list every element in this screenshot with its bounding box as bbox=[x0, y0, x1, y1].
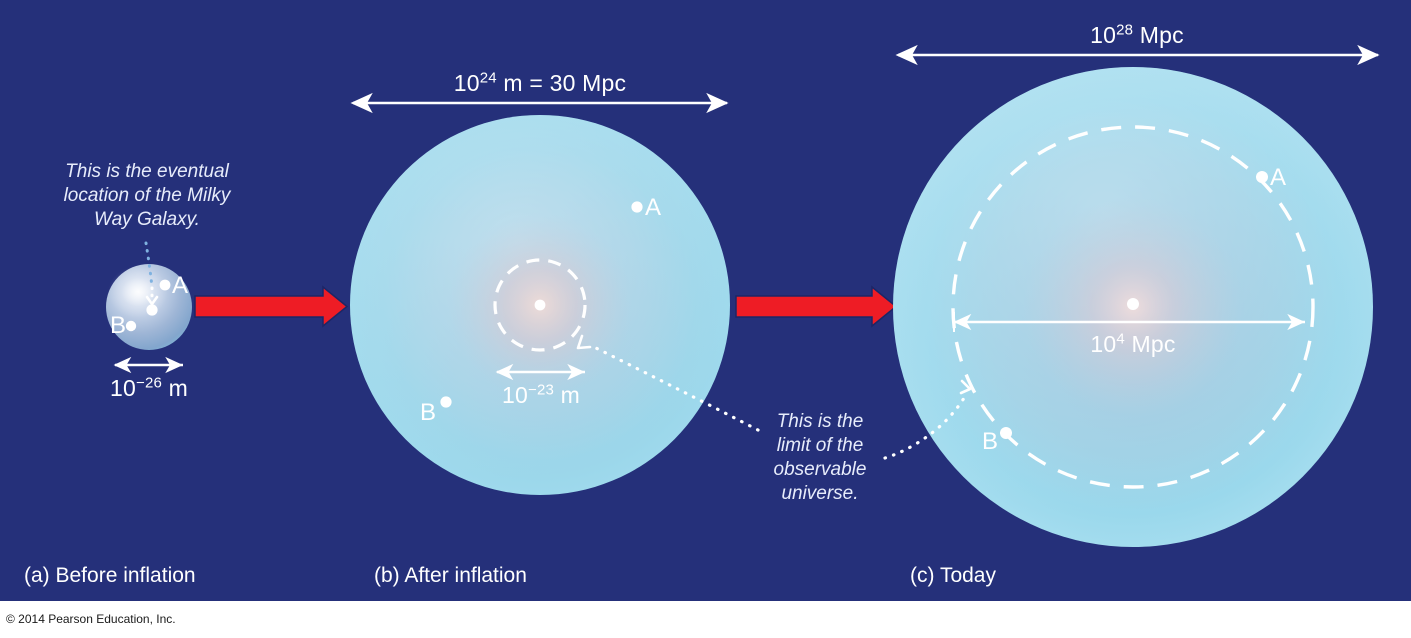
panel-b-inner-scale-label: 10−23 m bbox=[502, 382, 580, 409]
panel-c-center-dot bbox=[1127, 298, 1139, 310]
panel-c-inner-scale-label: 104 Mpc bbox=[1090, 331, 1175, 358]
observable-limit-annotation: This is the limit of the observable univ… bbox=[758, 410, 882, 506]
panel-c-inner-unit: Mpc bbox=[1125, 331, 1176, 357]
panel-b-point-b-label: B bbox=[420, 399, 436, 427]
panel-c-top-mantissa: 10 bbox=[1090, 22, 1116, 48]
inflation-arrow-2 bbox=[736, 287, 896, 326]
panel-a-point-a-label: A bbox=[172, 272, 188, 300]
panel-c-inner-mantissa: 10 bbox=[1090, 331, 1116, 357]
panel-a-scale-unit: m bbox=[162, 375, 188, 401]
panel-c-top-exponent: 28 bbox=[1116, 21, 1133, 38]
inflation-arrow-1 bbox=[195, 287, 347, 326]
panel-a-scale-mantissa: 10 bbox=[110, 375, 136, 401]
panel-c-top-unit: Mpc bbox=[1133, 22, 1184, 48]
panel-a-scale-label: 10−26 m bbox=[110, 375, 188, 402]
caption-panel-b: (b) After inflation bbox=[374, 564, 527, 589]
caption-panel-c: (c) Today bbox=[910, 564, 996, 589]
panel-a-point-b-dot bbox=[126, 321, 136, 331]
panel-c-top-scale-label: 1028 Mpc bbox=[1090, 22, 1184, 49]
panel-b-point-a-label: A bbox=[645, 194, 661, 222]
panel-b-top-exponent: 24 bbox=[480, 69, 497, 86]
panel-a-center-dot bbox=[146, 304, 157, 315]
figure-root: This is the eventual location of the Mil… bbox=[0, 0, 1411, 638]
panel-b-top-mantissa: 10 bbox=[454, 70, 480, 96]
panel-c-point-a-dot bbox=[1256, 171, 1268, 183]
diagram-panel: This is the eventual location of the Mil… bbox=[0, 0, 1411, 601]
panel-b-point-b-dot bbox=[440, 396, 451, 407]
diagram-graphics bbox=[0, 0, 1411, 601]
panel-b-top-scale-label: 1024 m = 30 Mpc bbox=[454, 70, 626, 97]
milky-way-annotation: This is the eventual location of the Mil… bbox=[49, 160, 245, 232]
panel-b-top-unit: m = 30 Mpc bbox=[497, 70, 626, 96]
panel-c-inner-exponent: 4 bbox=[1116, 330, 1125, 347]
panel-b-inner-unit: m bbox=[554, 382, 580, 408]
panel-c-point-b-dot bbox=[1000, 427, 1012, 439]
panel-c-point-b-label: B bbox=[982, 428, 998, 456]
panel-a-point-b-label: B bbox=[110, 312, 126, 340]
caption-panel-a: (a) Before inflation bbox=[24, 564, 196, 589]
copyright-notice: © 2014 Pearson Education, Inc. bbox=[6, 612, 176, 626]
panel-b-point-a-dot bbox=[631, 201, 642, 212]
panel-c-point-a-label: A bbox=[1270, 164, 1286, 192]
panel-a-scale-exponent: −26 bbox=[136, 374, 162, 391]
panel-b-inner-mantissa: 10 bbox=[502, 382, 528, 408]
panel-b-inner-exponent: −23 bbox=[528, 381, 554, 398]
panel-b-center-dot bbox=[535, 300, 546, 311]
panel-a-point-a-dot bbox=[160, 280, 171, 291]
